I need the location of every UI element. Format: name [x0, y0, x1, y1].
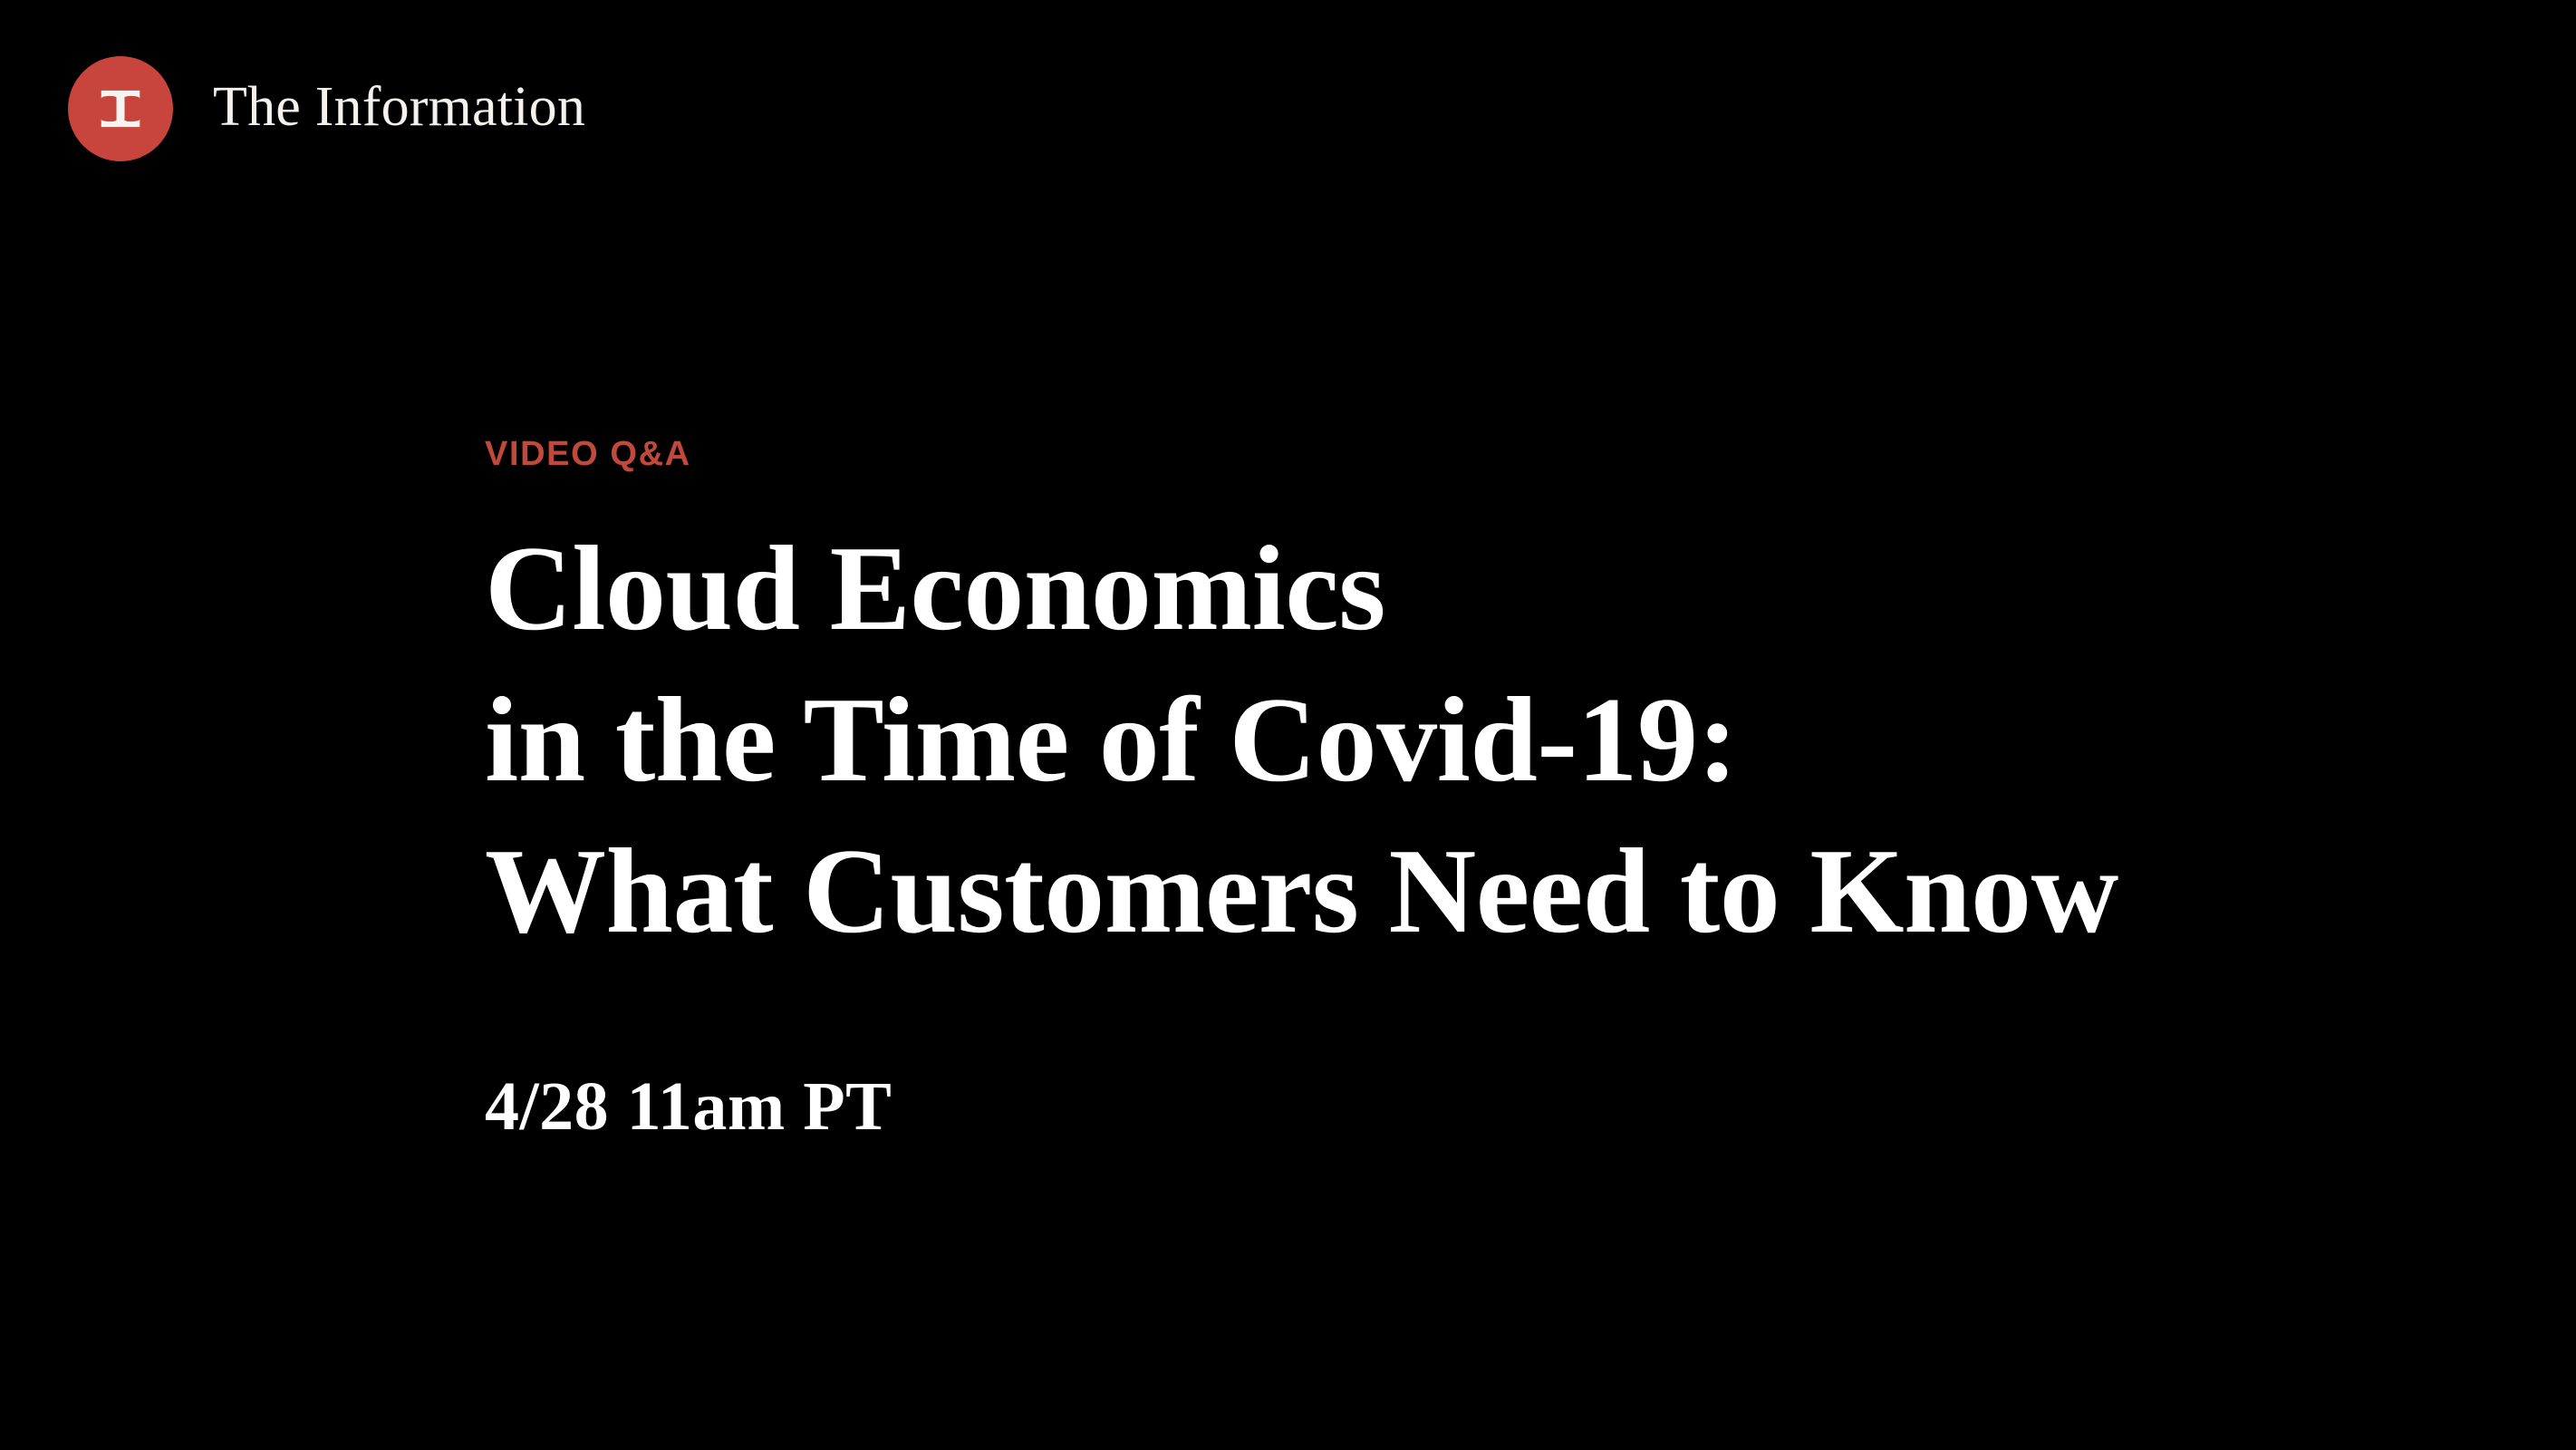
page-title: Cloud Economics in the Time of Covid-19:… [485, 513, 2433, 967]
serif-i-glyph-icon [95, 83, 146, 134]
masthead[interactable]: The Information [68, 54, 585, 163]
headline-line-2: in the Time of Covid-19: [485, 664, 2433, 816]
kicker-label: VIDEO Q&A [485, 437, 2433, 471]
information-i-logo-icon[interactable] [68, 56, 173, 161]
event-datetime: 4/28 11am PT [485, 1072, 2433, 1141]
headline-line-3: What Customers Need to Know [485, 816, 2433, 967]
headline-line-1: Cloud Economics [485, 513, 2433, 664]
promo-slide: The Information VIDEO Q&A Cloud Economic… [0, 0, 2576, 1450]
promo-content: VIDEO Q&A Cloud Economics in the Time of… [485, 437, 2433, 1141]
brand-wordmark: The Information [213, 79, 585, 135]
